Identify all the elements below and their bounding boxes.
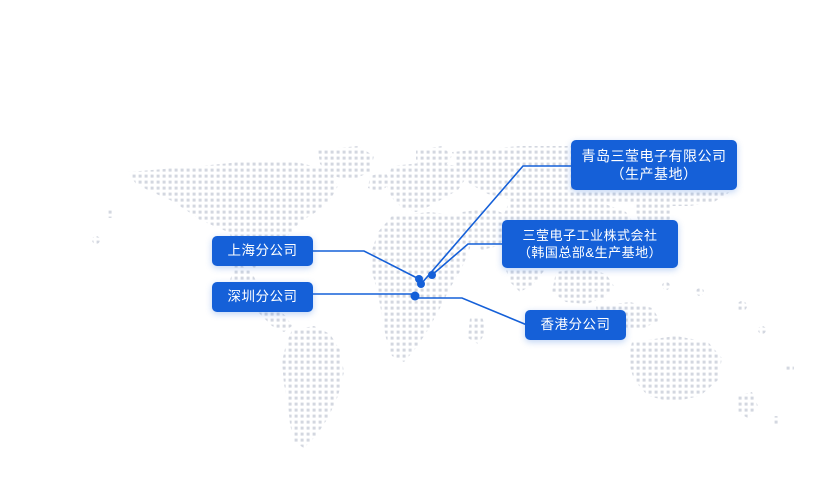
label-hongkong-line-1: 香港分公司	[541, 316, 611, 334]
label-qingdao-line-1: 青岛三莹电子有限公司	[582, 147, 727, 165]
label-korea-line-2: （韩国总部&生产基地）	[518, 244, 662, 261]
label-shenzhen-line-1: 深圳分公司	[228, 288, 298, 306]
label-korea-hq[interactable]: 三莹电子工业株式会社 （韩国总部&生产基地）	[502, 220, 678, 268]
label-qingdao[interactable]: 青岛三莹电子有限公司 （生产基地）	[571, 140, 737, 190]
label-korea-line-1: 三莹电子工业株式会社	[522, 227, 657, 244]
label-shanghai-line-1: 上海分公司	[228, 242, 298, 260]
label-hongkong[interactable]: 香港分公司	[525, 310, 626, 340]
world-map-infographic: 青岛三莹电子有限公司 （生产基地） 三莹电子工业株式会社 （韩国总部&生产基地）…	[0, 0, 824, 480]
world-map-background	[0, 0, 824, 480]
label-shanghai[interactable]: 上海分公司	[212, 236, 313, 266]
label-shenzhen[interactable]: 深圳分公司	[212, 282, 313, 312]
label-qingdao-line-2: （生产基地）	[611, 165, 698, 183]
